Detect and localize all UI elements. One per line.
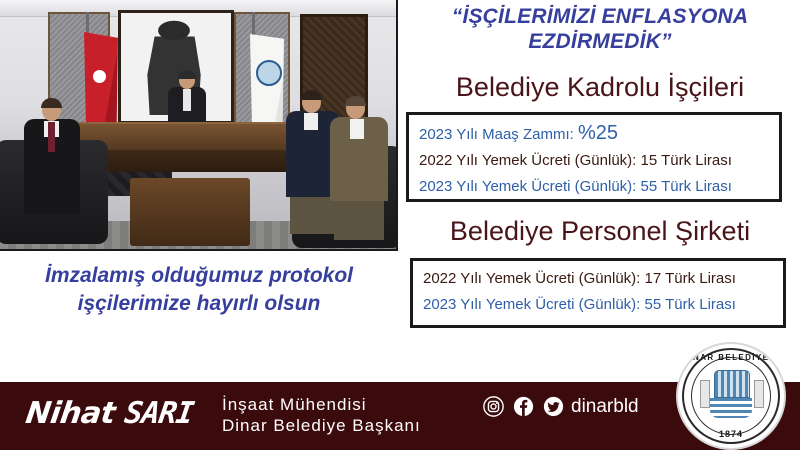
table-row: 2022 Yılı Yemek Ücreti (Günlük): 17 Türk… (423, 266, 783, 292)
photo-person-left (24, 100, 80, 230)
poster-headline: “İŞÇİLERİMİZİ ENFLASYONA EZDİRMEDİK” (406, 4, 794, 54)
dinar-belediyesi-logo: DİNAR BELEDİYESİ 1874 (676, 342, 786, 450)
info-column: “İŞÇİLERİMİZİ ENFLASYONA EZDİRMEDİK” Bel… (400, 0, 800, 382)
photo-person-right-2 (330, 98, 388, 238)
table-row: 2023 Yılı Yemek Ücreti (Günlük): 55 Türk… (419, 174, 779, 200)
meeting-photo (0, 0, 398, 251)
slogan-line-2: işçilerimize hayırlı olsun (0, 290, 398, 318)
slogan-line-1: İmzalamış olduğumuz protokol (0, 262, 398, 290)
title-line-1: İnşaat Mühendisi (222, 394, 421, 415)
logo-year: 1874 (678, 429, 784, 439)
section-heading-personel: Belediye Personel Şirketi (400, 216, 800, 247)
title-line-2: Dinar Belediye Başkanı (222, 415, 421, 436)
logo-water-icon (710, 398, 752, 418)
twitter-icon[interactable] (543, 396, 564, 417)
table-row: 2022 Yılı Yemek Ücreti (Günlük): 15 Türk… (419, 148, 779, 174)
logo-column-left-icon (700, 380, 710, 408)
signature: Nihat SARI (24, 396, 196, 431)
row-label: 2023 Yılı Maaş Zammı: (419, 126, 578, 143)
row-value: %25 (578, 122, 618, 144)
signature-last-name: SARI (122, 396, 195, 431)
logo-building-icon (714, 370, 750, 398)
signature-first-name: Nihat (24, 396, 128, 431)
personel-table: 2022 Yılı Yemek Ücreti (Günlük): 17 Türk… (410, 258, 786, 328)
table-row: 2023 Yılı Yemek Ücreti (Günlük): 55 Türk… (423, 292, 783, 318)
logo-column-right-icon (754, 380, 764, 408)
official-title: İnşaat Mühendisi Dinar Belediye Başkanı (222, 394, 421, 436)
turkish-flag-icon (84, 32, 118, 130)
logo-top-text: DİNAR BELEDİYESİ (678, 353, 784, 362)
slogan-text: İmzalamış olduğumuz protokol işçilerimiz… (0, 262, 398, 318)
facebook-icon[interactable] (513, 396, 534, 417)
municipal-flag-icon (250, 34, 284, 130)
social-links[interactable]: dinarbld (483, 396, 639, 417)
poster-root: “İŞÇİLERİMİZİ ENFLASYONA EZDİRMEDİK” Bel… (0, 0, 800, 450)
table-row: 2023 Yılı Maaş Zammı: %25 (419, 120, 779, 148)
section-heading-kadrolu: Belediye Kadrolu İşçileri (400, 72, 800, 103)
kadrolu-table: 2023 Yılı Maaş Zammı: %25 2022 Yılı Yeme… (406, 112, 782, 202)
photo-coffee-table (130, 178, 250, 246)
instagram-icon[interactable] (483, 396, 504, 417)
social-handle[interactable]: dinarbld (571, 397, 639, 416)
